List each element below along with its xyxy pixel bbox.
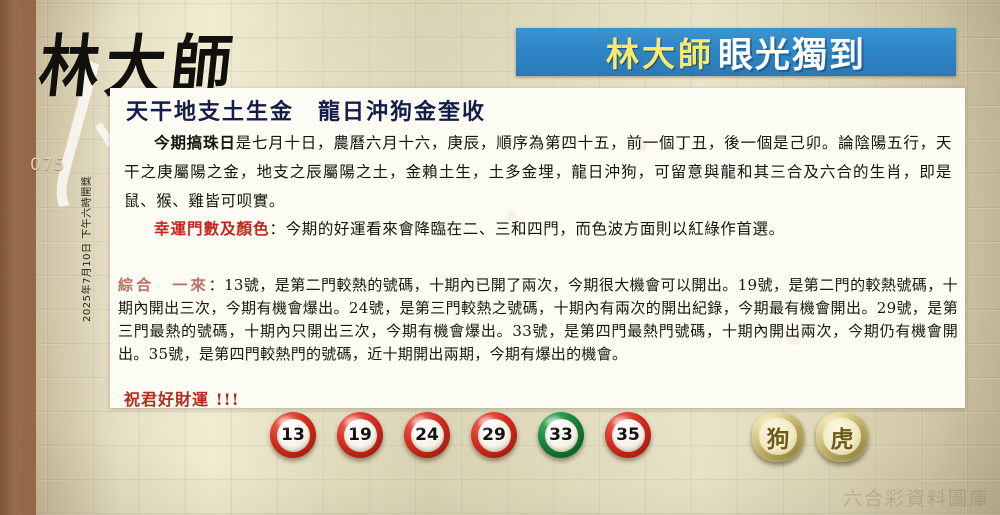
banner-slogan: 眼光獨到 (718, 28, 866, 76)
summary-text: ：13號，是第二門較熱的號碼，十期內已開了兩次，今期很大機會可以開出。19號，是… (118, 276, 958, 363)
lottery-ball[interactable]: 33 (538, 412, 584, 458)
page-background: 〴 075 林大師 林大師 眼光獨到 天干地支土生金 龍日沖狗金奎收 今期搞珠日… (0, 0, 1000, 515)
zodiac-medallion[interactable]: 狗 (752, 412, 804, 462)
left-edge-strip-highlight (14, 0, 36, 515)
ball-gloss (613, 417, 629, 427)
watermark-text: 六合彩資料圖庫 (843, 484, 990, 511)
date-stamp: 2025年7月10日 下午六時開獎 (78, 176, 93, 322)
zodiac-medallion-row: 狗 虎 (752, 412, 868, 462)
lottery-ball[interactable]: 24 (404, 412, 450, 458)
zodiac-medallion[interactable]: 虎 (816, 412, 868, 462)
medallion-face: 虎 (823, 418, 861, 455)
lucky-label: 幸運門數及顏色 (154, 219, 270, 238)
ball-gloss (278, 417, 294, 427)
lottery-ball[interactable]: 19 (337, 412, 383, 458)
banner-brand: 林大師 (606, 28, 714, 76)
ball-gloss (412, 417, 428, 427)
ball-gloss (345, 417, 361, 427)
medallion-face: 狗 (759, 418, 797, 455)
lead-bold-text: 今期搞珠日 (154, 133, 236, 152)
lucky-text: ：今期的好運看來會降臨在二、三和四門，而色波方面則以紅綠作首選。 (270, 220, 785, 238)
summary-label: 綜合 一來 (118, 276, 209, 294)
ball-gloss (546, 417, 562, 427)
lucky-line: 幸運門數及顏色：今期的好運看來會降臨在二、三和四門，而色波方面則以紅綠作首選。 (154, 216, 954, 242)
zodiac-character: 狗 (767, 420, 790, 454)
article-body: 今期搞珠日是七月十日，農曆六月十六，庚辰，順序為第四十五，前一個丁丑，後一個是己… (124, 128, 952, 216)
lottery-ball[interactable]: 29 (471, 412, 517, 458)
summary-paragraph: 綜合 一來：13號，是第二門較熱的號碼，十期內已開了兩次，今期很大機會可以開出。… (118, 274, 958, 366)
ball-gloss (479, 417, 495, 427)
lottery-ball-row: 13 19 24 29 33 35 (270, 412, 651, 458)
article-sheet: 天干地支土生金 龍日沖狗金奎收 今期搞珠日是七月十日，農曆六月十六，庚辰，順序為… (110, 88, 965, 408)
issue-number: 075 (30, 155, 65, 175)
zodiac-character: 虎 (831, 420, 854, 454)
lottery-ball[interactable]: 35 (605, 412, 651, 458)
slogan-banner: 林大師 眼光獨到 (516, 28, 956, 76)
article-headline: 天干地支土生金 龍日沖狗金奎收 (126, 94, 486, 126)
wish-text: 祝君好財運 !!! (124, 386, 240, 410)
lottery-ball[interactable]: 13 (270, 412, 316, 458)
paragraph-text: 是七月十日，農曆六月十六，庚辰，順序為第四十五，前一個丁丑，後一個是己卯。論陰陽… (124, 134, 952, 210)
